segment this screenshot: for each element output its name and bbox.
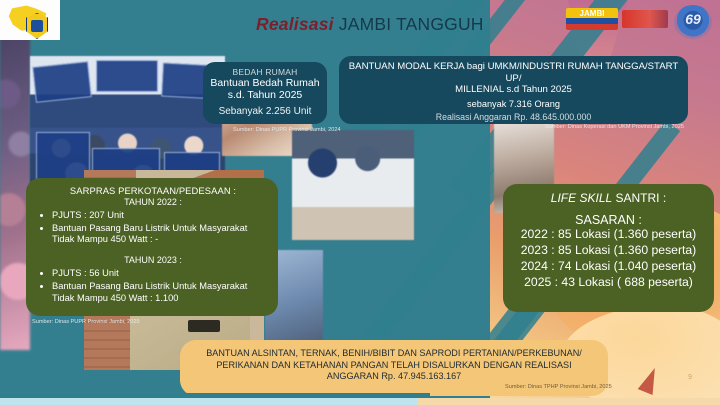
life-skill-heading-rest: SANTRI : <box>612 191 666 205</box>
page-title: Realisasi JAMBI TANGGUH <box>256 14 484 35</box>
modal-kerja-line2: MILLENIAL s.d Tahun 2025 <box>347 84 680 96</box>
sarpras-list-2022: PJUTS : 207 Unit Bantuan Pasang Baru Lis… <box>36 210 270 246</box>
bottom-accent-strip <box>0 398 720 405</box>
bedah-rumah-line2: s.d. Tahun 2025 <box>209 89 321 101</box>
life-skill-row: 2024 : 74 Lokasi (1.040 peserta) <box>509 259 708 275</box>
modal-kerja-count: sebanyak 7.316 Orang <box>347 99 680 110</box>
jambi-wordmark-logo: JAMBI <box>566 8 618 30</box>
presentation-slide: Realisasi JAMBI TANGGUH JAMBI BEDAH RUMA… <box>0 0 720 405</box>
modal-kerja-budget: Realisasi Anggaran Rp. 48.645.000.000 <box>347 112 680 123</box>
bantuan-pertanian-line3: ANGGARAN Rp. 47.945.163.167 <box>190 371 598 383</box>
source-bedah-rumah: Sumber: Dinas PUPR Provinsi Jambi, 2024 <box>233 127 341 133</box>
photo-worker-badge <box>188 320 220 332</box>
bedah-rumah-heading: BEDAH RUMAH <box>209 67 321 77</box>
bantuan-pertanian-line1: BANTUAN ALSINTAN, TERNAK, BENIH/BIBIT DA… <box>190 348 598 360</box>
life-skill-row: 2023 : 85 Lokasi (1.360 peserta) <box>509 243 708 259</box>
photo-banner <box>32 61 91 103</box>
photo-crowd-gathering <box>292 130 414 240</box>
source-sarpras: Sumber: Dinas PUPR Provinsi Jambi, 2025 <box>32 319 140 325</box>
list-item: Bantuan Pasang Baru Listrik Untuk Masyar… <box>52 281 270 304</box>
life-skill-subheading: SASARAN : <box>509 213 708 227</box>
life-skill-heading: LIFE SKILL SANTRI : <box>509 191 708 205</box>
sarpras-heading: SARPRAS PERKOTAAN/PEDESAAN : <box>36 185 270 196</box>
sarpras-year-2023: TAHUN 2023 : <box>36 255 270 265</box>
source-bantuan-pertanian: Sumber: Dinas TPHP Provinsi Jambi, 2025 <box>505 384 612 390</box>
life-skill-row: 2025 : 43 Lokasi ( 688 peserta) <box>509 275 708 291</box>
bedah-rumah-line1: Bantuan Bedah Rumah <box>209 77 321 89</box>
card-bedah-rumah: BEDAH RUMAH Bantuan Bedah Rumah s.d. Tah… <box>203 62 327 124</box>
province-seal-icon <box>26 13 48 39</box>
photo-group-recipients <box>30 56 225 184</box>
card-sarpras: SARPRAS PERKOTAAN/PEDESAAN : TAHUN 2022 … <box>26 178 278 316</box>
list-item: PJUTS : 56 Unit <box>52 268 270 280</box>
list-item: PJUTS : 207 Unit <box>52 210 270 222</box>
campaign-logo <box>622 10 668 28</box>
page-title-main: JAMBI TANGGUH <box>334 14 484 34</box>
list-item: Bantuan Pasang Baru Listrik Untuk Masyar… <box>52 223 270 246</box>
card-life-skill-santri: LIFE SKILL SANTRI : SASARAN : 2022 : 85 … <box>503 184 714 312</box>
photo-banner <box>96 60 158 92</box>
bantuan-pertanian-line2: PERIKANAN DAN KETAHANAN PANGAN TELAH DIS… <box>190 360 598 372</box>
life-skill-heading-italic: LIFE SKILL <box>551 191 612 205</box>
anniversary-69-logo <box>674 5 712 39</box>
card-modal-kerja: BANTUAN MODAL KERJA bagi UMKM/INDUSTRI R… <box>339 56 688 124</box>
life-skill-row: 2022 : 85 Lokasi (1.360 peserta) <box>509 227 708 243</box>
logo-cluster: JAMBI <box>566 2 716 42</box>
sarpras-list-2023: PJUTS : 56 Unit Bantuan Pasang Baru List… <box>36 268 270 304</box>
photo-banner <box>36 132 90 180</box>
page-title-emphasis: Realisasi <box>256 14 334 34</box>
jambi-province-emblem-logo <box>0 0 60 40</box>
modal-kerja-line1: BANTUAN MODAL KERJA bagi UMKM/INDUSTRI R… <box>347 61 680 84</box>
sarpras-year-2022: TAHUN 2022 : <box>36 197 270 207</box>
page-number: 9 <box>688 374 692 381</box>
source-modal-kerja: Sumber: Dinas Koperasi dan UKM Provinsi … <box>545 124 695 131</box>
bedah-rumah-total: Sebanyak 2.256 Unit <box>209 106 321 118</box>
